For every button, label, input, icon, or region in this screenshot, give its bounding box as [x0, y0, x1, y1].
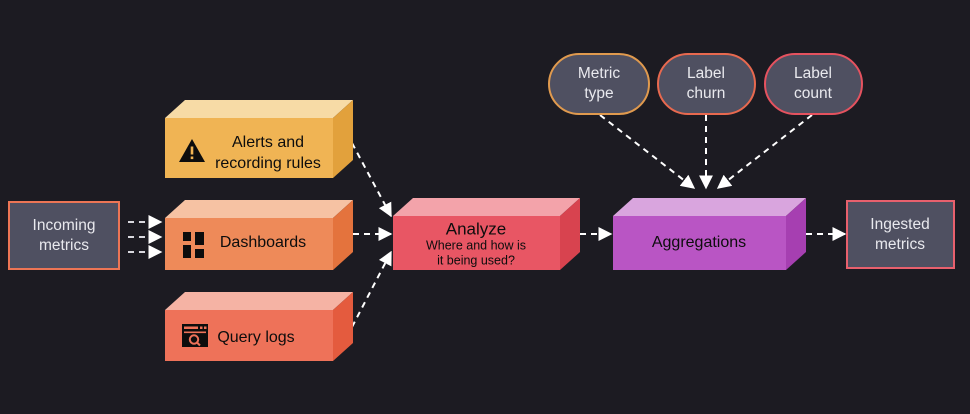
label-count-label-1: Label: [794, 65, 832, 82]
node-ingested-metrics[interactable]: Ingested metrics: [847, 201, 954, 268]
node-alerts-and-recording-rules[interactable]: Alerts and recording rules: [165, 100, 353, 178]
ingested-metrics-label-2: metrics: [875, 236, 925, 253]
ingested-metrics-label-1: Ingested: [870, 216, 929, 233]
incoming-metrics-label-2: metrics: [39, 237, 89, 254]
analyze-sub-2: it being used?: [437, 253, 515, 267]
metric-type-label-1: Metric: [578, 65, 620, 82]
alerts-label-2: recording rules: [215, 155, 321, 172]
metric-type-label-2: type: [584, 85, 613, 102]
node-dashboards[interactable]: Dashboards: [165, 200, 353, 270]
ingested-metrics-box[interactable]: [847, 201, 954, 268]
incoming-metrics-box[interactable]: [9, 202, 119, 269]
node-query-logs[interactable]: Query logs: [165, 292, 353, 361]
querylogs-cube-top: [165, 292, 353, 310]
node-analyze[interactable]: Analyze Where and how is it being used?: [393, 198, 580, 270]
analyze-sub-1: Where and how is: [426, 238, 526, 252]
analyze-label: Analyze: [446, 219, 506, 238]
alerts-cube-top: [165, 100, 353, 118]
label-churn-label-2: churn: [687, 85, 726, 102]
label-churn-shape[interactable]: [658, 54, 755, 114]
metric-type-shape[interactable]: [549, 54, 649, 114]
label-count-label-2: count: [794, 85, 833, 102]
node-aggregations[interactable]: Aggregations: [613, 198, 806, 270]
dashboards-cube-top: [165, 200, 353, 218]
alerts-label-1: Alerts and: [232, 134, 304, 151]
node-label-count[interactable]: Label count: [765, 54, 862, 114]
dashboards-label: Dashboards: [220, 234, 306, 251]
analyze-cube-top: [393, 198, 580, 216]
incoming-metrics-label-1: Incoming: [33, 217, 96, 234]
querylogs-label: Query logs: [217, 329, 294, 346]
aggregations-label: Aggregations: [652, 234, 746, 251]
node-incoming-metrics[interactable]: Incoming metrics: [9, 202, 119, 269]
node-metric-type[interactable]: Metric type: [549, 54, 649, 114]
log-search-window-icon: [182, 324, 208, 347]
label-count-shape[interactable]: [765, 54, 862, 114]
aggregations-cube-top: [613, 198, 806, 216]
nodes-layer: Incoming metrics Alerts and recording ru…: [0, 0, 970, 414]
node-label-churn[interactable]: Label churn: [658, 54, 755, 114]
label-churn-label-1: Label: [687, 65, 725, 82]
diagram-canvas: Incoming metrics Alerts and recording ru…: [0, 0, 970, 414]
